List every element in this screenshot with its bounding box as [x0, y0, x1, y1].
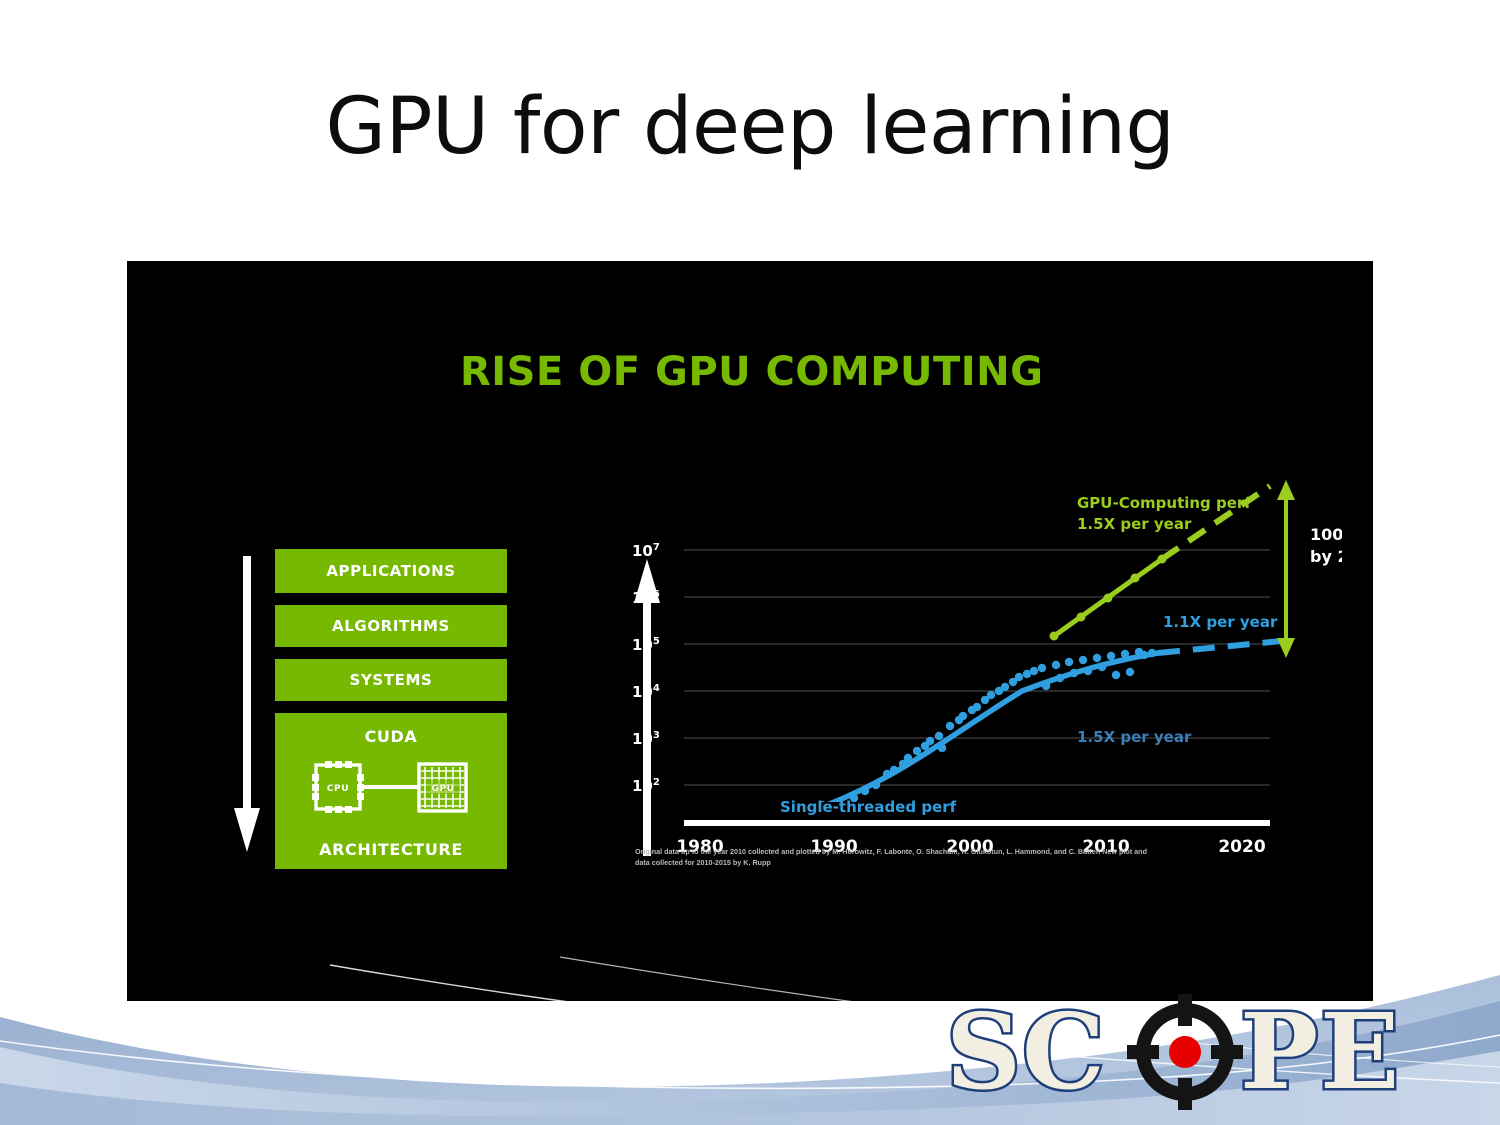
chart-svg: 107 106 105 104 103 102 1980 1990 2000 2…: [622, 476, 1342, 876]
chip-connector: [364, 785, 418, 789]
annotation-cpu-growth-late: 1.1X per year: [1163, 613, 1278, 631]
x-tick-2020: 2020: [1218, 837, 1265, 857]
cpu-chip-icon: CPU: [312, 761, 364, 813]
panel-heading: RISE OF GPU COMPUTING: [460, 349, 1044, 395]
gain-label-by-2025: by 2025: [1310, 547, 1342, 566]
gain-label-1000x: 1000X: [1310, 525, 1342, 544]
y-tick-1e6: 106: [632, 589, 660, 607]
stack-block-algorithms[interactable]: ALGORITHMS: [275, 605, 507, 647]
x-axis-line: [684, 820, 1270, 826]
stack-block-systems[interactable]: SYSTEMS: [275, 659, 507, 701]
nvidia-slide-image: RISE OF GPU COMPUTING APPLICATIONS ALGOR…: [127, 261, 1373, 1001]
stack-block-architecture[interactable]: CUDA: [275, 713, 507, 869]
crosshair-icon: [1127, 994, 1243, 1110]
svg-text:CPU: CPU: [327, 784, 349, 794]
architecture-label: ARCHITECTURE: [275, 840, 507, 859]
cpu-gpu-diagram: CPU: [275, 759, 507, 815]
annotation-single-threaded-perf: Single-threaded perf: [780, 798, 957, 816]
svg-text:GPU: GPU: [431, 784, 454, 794]
annotation-gpu-computing-perf: GPU-Computing perf: [1077, 494, 1251, 512]
y-tick-1e7: 107: [632, 542, 660, 560]
scope-logo: S C P E: [940, 1000, 1420, 1110]
y-tick-1e2: 102: [632, 777, 660, 795]
cuda-label: CUDA: [275, 727, 507, 746]
logo-letter-p: P: [1240, 990, 1318, 1113]
stack-block-applications[interactable]: APPLICATIONS: [275, 549, 507, 593]
y-tick-1e5: 105: [632, 636, 660, 654]
chart-gridlines: [684, 550, 1270, 785]
gpu-computing-stack: APPLICATIONS ALGORITHMS SYSTEMS CUDA: [275, 549, 507, 869]
chart-footnote: Original data up to the year 2010 collec…: [635, 846, 1155, 868]
annotation-gpu-growth: 1.5X per year: [1077, 515, 1192, 533]
logo-letter-e: E: [1320, 990, 1399, 1113]
gpu-performance-chart: 107 106 105 104 103 102 1980 1990 2000 2…: [622, 476, 1342, 876]
y-tick-1e4: 104: [632, 683, 660, 701]
y-axis-labels: 107 106 105 104 103 102: [632, 542, 660, 795]
gpu-chip-icon: GPU: [419, 764, 466, 811]
annotation-cpu-growth-early: 1.5X per year: [1077, 728, 1192, 746]
single-threaded-projection: [1158, 641, 1282, 653]
gain-arrow-icon: [1277, 480, 1295, 658]
logo-letter-c: C: [1022, 990, 1105, 1113]
down-arrow-icon: [232, 556, 262, 856]
logo-letter-s: S: [946, 990, 1021, 1113]
y-tick-1e3: 103: [632, 730, 660, 748]
page-title: GPU for deep learning: [0, 88, 1500, 166]
